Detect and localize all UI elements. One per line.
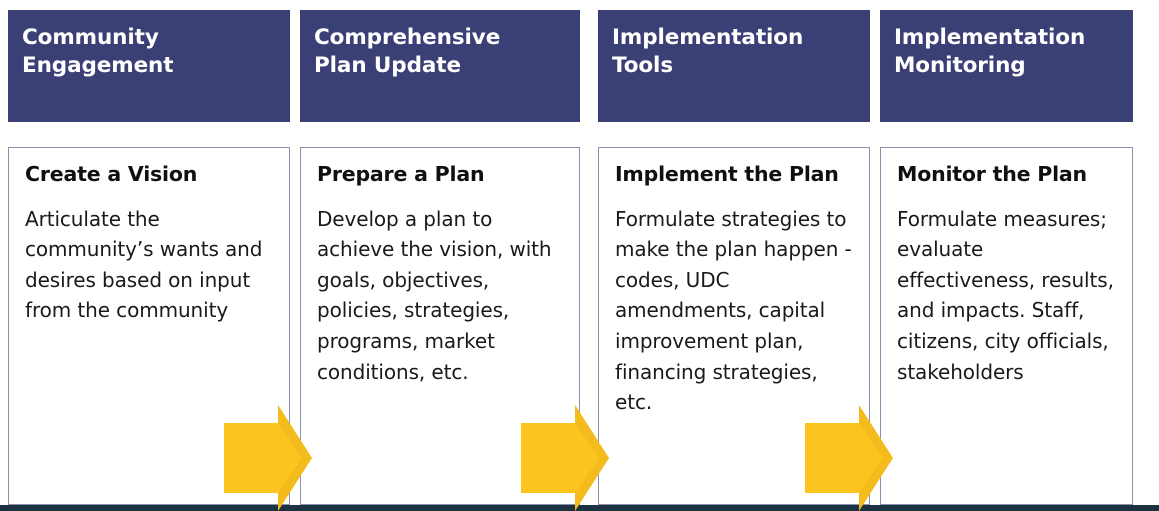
phase-header-comprehensive-plan-update: Comprehensive Plan Update xyxy=(300,10,580,122)
arrow-plan-to-implement-icon xyxy=(521,405,609,511)
step-title: Implement the Plan xyxy=(615,162,859,187)
arrow-vision-to-plan-icon xyxy=(224,405,312,511)
phase-header-label: Comprehensive Plan Update xyxy=(314,24,580,79)
phase-header-community-engagement: Community Engagement xyxy=(8,10,290,122)
step-title: Create a Vision xyxy=(25,162,279,187)
step-title: Prepare a Plan xyxy=(317,162,569,187)
step-body: Develop a plan to achieve the vision, wi… xyxy=(317,204,569,388)
phase-header-implementation-tools: Implementation Tools xyxy=(598,10,870,122)
phase-header-label: Implementation Monitoring xyxy=(894,24,1133,79)
phase-header-implementation-monitoring: Implementation Monitoring xyxy=(880,10,1133,122)
step-title: Monitor the Plan xyxy=(897,162,1122,187)
step-body: Articulate the community’s wants and des… xyxy=(25,204,279,326)
step-body: Formulate measures; evaluate effectivene… xyxy=(897,204,1122,388)
step-box-monitor-the-plan: Monitor the Plan Formulate measures; eva… xyxy=(880,147,1133,505)
process-flow-diagram: Community Engagement Comprehensive Plan … xyxy=(0,0,1159,511)
step-body: Formulate strategies to make the plan ha… xyxy=(615,204,859,418)
phase-header-label: Implementation Tools xyxy=(612,24,870,79)
phase-header-label: Community Engagement xyxy=(22,24,290,79)
arrow-implement-to-monitor-icon xyxy=(805,405,893,511)
